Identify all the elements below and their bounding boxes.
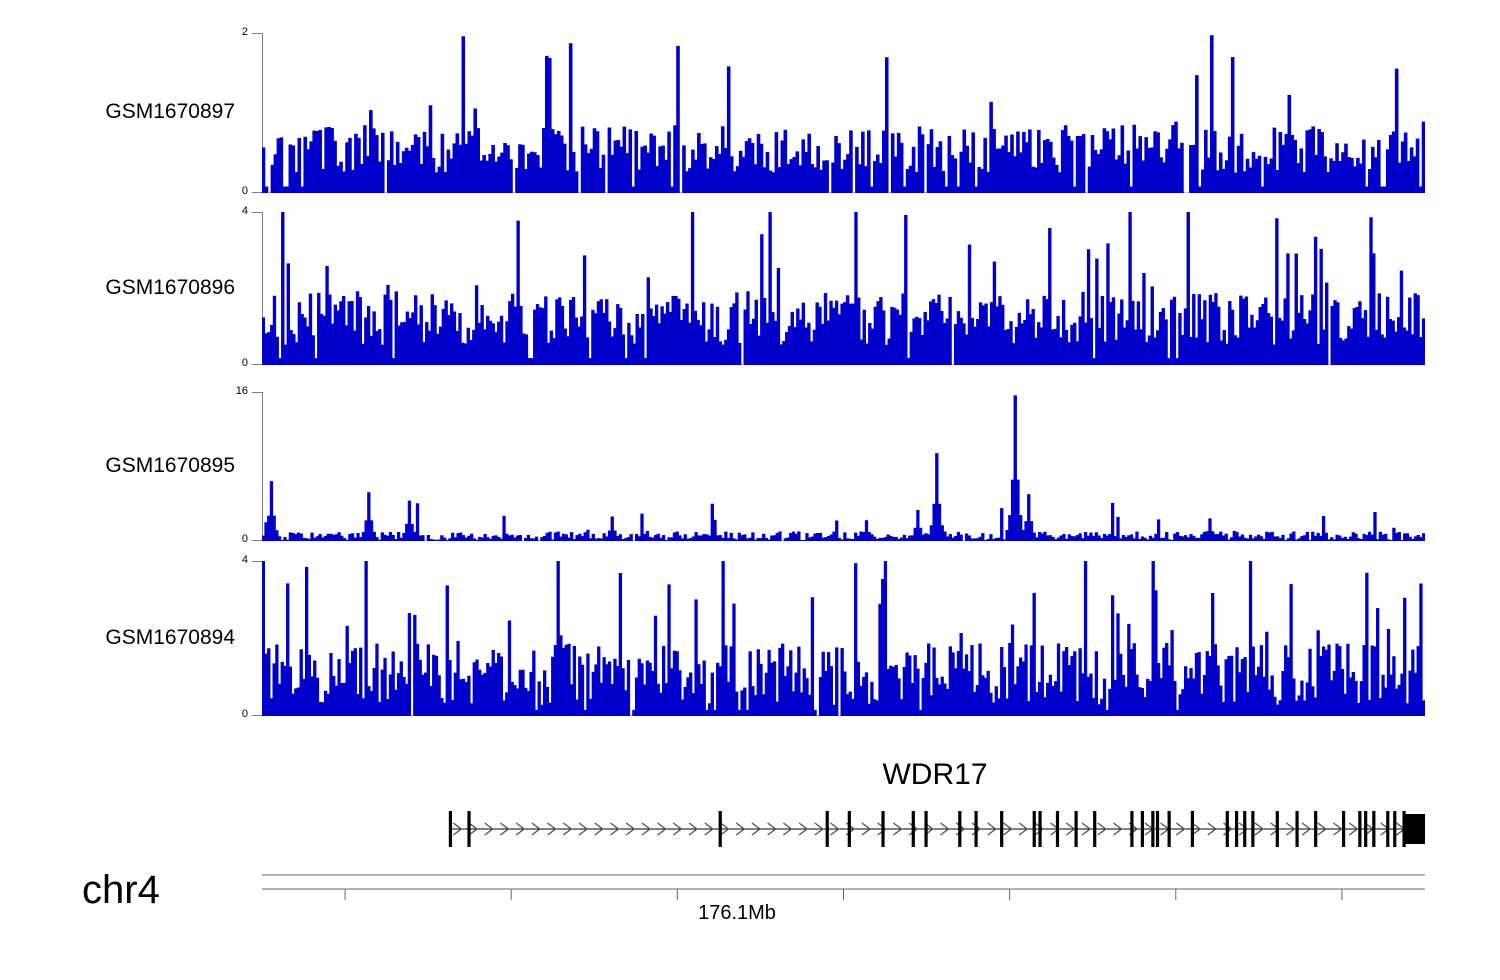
exon-bar: [1093, 811, 1096, 847]
coverage-plot-area[interactable]: [262, 561, 1425, 716]
exon-bar: [1251, 811, 1254, 847]
coverage-area: [262, 396, 1425, 541]
exon-bar: [912, 811, 915, 847]
exon-bar: [1151, 811, 1154, 847]
track-label: GSM1670894: [105, 627, 235, 648]
gene-model-diagram[interactable]: [262, 805, 1425, 855]
exon-bar: [1075, 811, 1078, 847]
exon-bar: [1130, 811, 1133, 847]
track-label: GSM1670895: [105, 455, 235, 476]
exon-bar: [1191, 811, 1194, 847]
coverage-plot-area[interactable]: [262, 33, 1425, 193]
track-label: GSM1670896: [105, 277, 235, 298]
y-axis-tick-label: 0: [242, 186, 248, 197]
y-axis-tick-label: 0: [242, 534, 248, 545]
exon-bar: [719, 811, 722, 847]
coverage-plot-area[interactable]: [262, 212, 1425, 365]
exon-bar: [1038, 811, 1041, 847]
exon-bar: [974, 811, 977, 847]
exon-bar: [1000, 811, 1003, 847]
exon-bar: [1372, 811, 1375, 847]
exon-bar: [1295, 811, 1298, 847]
exon-bar: [881, 811, 884, 847]
y-axis-tick-label: 0: [242, 358, 248, 369]
coverage-track-gsm1670895[interactable]: GSM1670895160: [0, 392, 1500, 541]
genome-coordinate-label: 176.1Mb: [627, 903, 847, 923]
genome-browser: GSM167089720GSM167089640GSM1670895160GSM…: [0, 0, 1500, 980]
exon-bar: [1033, 811, 1036, 847]
gene-model-track[interactable]: WDR17: [0, 760, 1500, 860]
coverage-track-gsm1670897[interactable]: GSM167089720: [0, 33, 1500, 193]
exon-bar: [1342, 811, 1345, 847]
genome-axis-ruler[interactable]: [262, 865, 1425, 905]
coverage-area: [262, 212, 1425, 365]
exon-bar: [467, 811, 470, 847]
exon-bar: [1235, 811, 1238, 847]
coverage-track-gsm1670894[interactable]: GSM167089440: [0, 561, 1500, 716]
coverage-track-gsm1670896[interactable]: GSM167089640: [0, 212, 1500, 365]
coverage-plot-area[interactable]: [262, 392, 1425, 541]
coverage-area: [262, 36, 1425, 193]
exon-bar: [1056, 811, 1059, 847]
chromosome-label: chr4: [82, 870, 160, 910]
exon-bar: [1364, 811, 1367, 847]
exon-bar: [1156, 811, 1159, 847]
exon-bar: [958, 811, 961, 847]
exon-bar: [1226, 811, 1229, 847]
y-axis-tick-label: 0: [242, 709, 248, 720]
exon-bar: [1141, 811, 1144, 847]
exon-bar: [1358, 811, 1361, 847]
genome-axis-track: chr4 176.1Mb: [0, 865, 1500, 955]
exon-bar: [1243, 811, 1246, 847]
exon-bar: [1314, 811, 1317, 847]
y-axis-tick-label: 16: [236, 386, 248, 397]
exon-bar: [924, 811, 927, 847]
exon-bar: [1393, 811, 1396, 847]
y-axis-tick-label: 4: [242, 555, 248, 566]
utr-block: [1404, 814, 1425, 844]
exon-bar: [826, 811, 829, 847]
exon-bar: [1168, 811, 1171, 847]
y-axis-tick-label: 2: [242, 27, 248, 38]
track-label: GSM1670897: [105, 101, 235, 122]
exon-bar: [1386, 811, 1389, 847]
gene-name-label: WDR17: [815, 760, 1055, 790]
exon-bar: [1276, 811, 1279, 847]
exon-bar: [449, 811, 452, 847]
coverage-area: [262, 561, 1425, 716]
exon-bar: [848, 811, 851, 847]
y-axis-tick-label: 4: [242, 206, 248, 217]
